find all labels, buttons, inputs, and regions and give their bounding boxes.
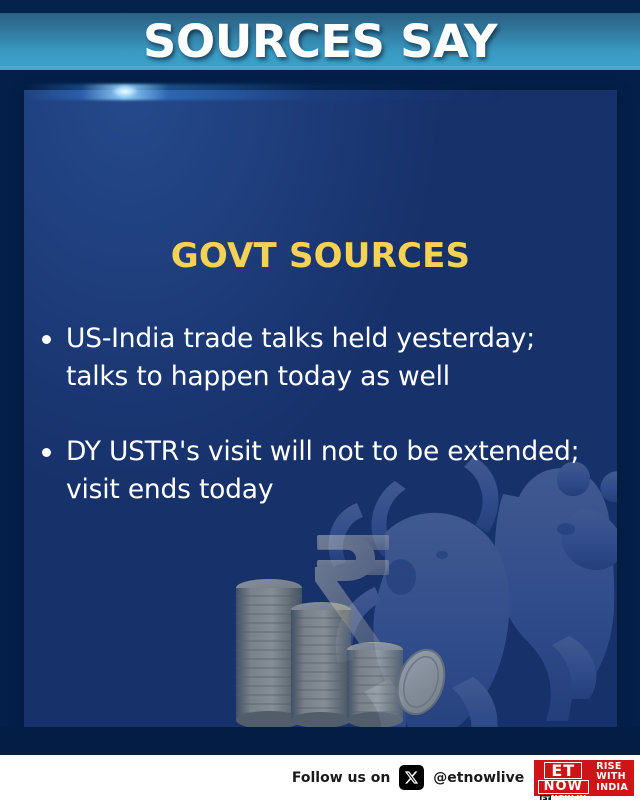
bullet-text: US-India trade talks held yesterday; tal… (66, 320, 596, 397)
etnow-logo-domain: ET NOW.IN (540, 795, 586, 800)
coin-stacks-illustration (229, 552, 449, 727)
social-handle[interactable]: @etnowlive (433, 770, 524, 786)
rupee-symbol-icon (307, 529, 399, 649)
card-title: GOVT SOURCES (24, 236, 617, 276)
follow-label: Follow us on (292, 770, 390, 786)
etnow-logo[interactable]: ET NOW ET NOW.IN RISE WITH INDIA (534, 760, 634, 796)
bullet-dot-icon (42, 448, 51, 457)
etnow-logo-now: NOW (538, 780, 589, 794)
content-card: GOVT SOURCES US-India trade talks held y… (24, 90, 617, 727)
etnow-logo-mark: ET NOW ET NOW.IN (534, 760, 592, 796)
banner-title: SOURCES SAY (0, 10, 640, 72)
list-item: US-India trade talks held yesterday; tal… (42, 320, 602, 397)
bullet-text: DY USTR's visit will not to be extended;… (66, 433, 596, 510)
x-twitter-icon[interactable] (399, 765, 424, 790)
bullet-dot-icon (42, 335, 51, 344)
footer-bar: Follow us on @etnowlive ET NOW ET NOW.IN… (0, 755, 640, 800)
tagline-line-3: INDIA (596, 783, 628, 794)
etnow-domain-text: NOW.IN (551, 795, 587, 800)
etnow-tagline: RISE WITH INDIA (592, 760, 634, 796)
list-item: DY USTR's visit will not to be extended;… (42, 433, 602, 510)
sources-say-graphic: SOURCES SAY (0, 0, 640, 800)
card-bottom-backdrop (0, 727, 640, 755)
etnow-logo-et: ET (544, 762, 582, 779)
etnow-domain-prefix: ET (540, 795, 551, 800)
bullet-list: US-India trade talks held yesterday; tal… (42, 320, 602, 546)
